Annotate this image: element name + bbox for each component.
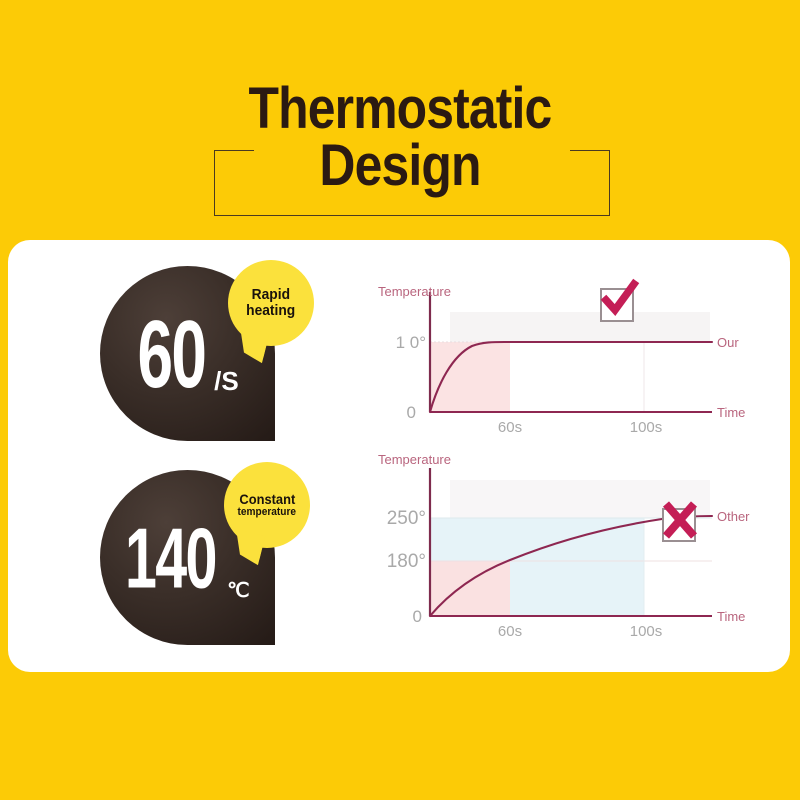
badge-unit-speed: /S [214,366,239,397]
axis-label-temperature: Temperature [378,284,451,299]
bubble-text-line-2: temperature [238,507,296,519]
gray-band-region [450,312,710,342]
xtick-label-60s: 60s [498,623,522,640]
badge-value-speed: 60 [138,306,206,401]
axis-label-temperature: Temperature [378,452,451,467]
title-line-secondary: Design [56,139,744,192]
badge-rapid-heating: 60 /S Rapid heating [100,258,300,448]
bubble-text-line-1: Rapid [252,287,290,303]
ytick-label-180: 180° [387,551,426,572]
cross-icon [658,498,702,542]
xtick-label-100s: 100s [630,419,663,435]
badge-unit-temperature: ℃ [227,578,249,603]
chart-our-heating: Temperature Time Our 0 1 0° 60s 100s [372,280,772,435]
frame-edge-bottom [214,215,610,216]
chart-other-svg: Temperature Time Other 0 180° 250° 60s 1… [372,450,772,640]
xtick-label-100s: 100s [630,623,663,640]
bubble-text-line-1: Constant [239,492,295,507]
series-label-our: Our [717,335,739,350]
ytick-label-10: 1 0° [396,333,426,352]
header-banner: Thermostatic Design [0,0,800,240]
axis-label-time: Time [717,405,745,420]
xtick-label-60s: 60s [498,419,522,435]
pink-region [430,342,510,412]
verdict-box-check [600,288,634,322]
axis-label-time: Time [717,609,745,624]
ytick-label-250: 250° [387,508,426,529]
verdict-box-cross [662,508,696,542]
title-line-primary: Thermostatic [56,82,744,135]
ytick-label-0: 0 [413,607,422,626]
bubble-text-line-2: heating [246,303,295,319]
series-label-other: Other [717,509,750,524]
pink-region [430,561,510,616]
ytick-label-0: 0 [407,403,416,422]
check-icon [596,278,640,322]
badge-constant-temperature: 140 ℃ Constant temperature [100,462,300,652]
speech-bubble-rapid-heating: Rapid heating [228,260,314,346]
chart-our-svg: Temperature Time Our 0 1 0° 60s 100s [372,280,772,435]
speech-bubble-constant-temperature: Constant temperature [224,462,310,548]
badge-value-temperature: 140 [125,515,216,600]
page-title: Thermostatic Design [0,82,800,193]
chart-other-heating: Temperature Time Other 0 180° 250° 60s 1… [372,450,772,640]
